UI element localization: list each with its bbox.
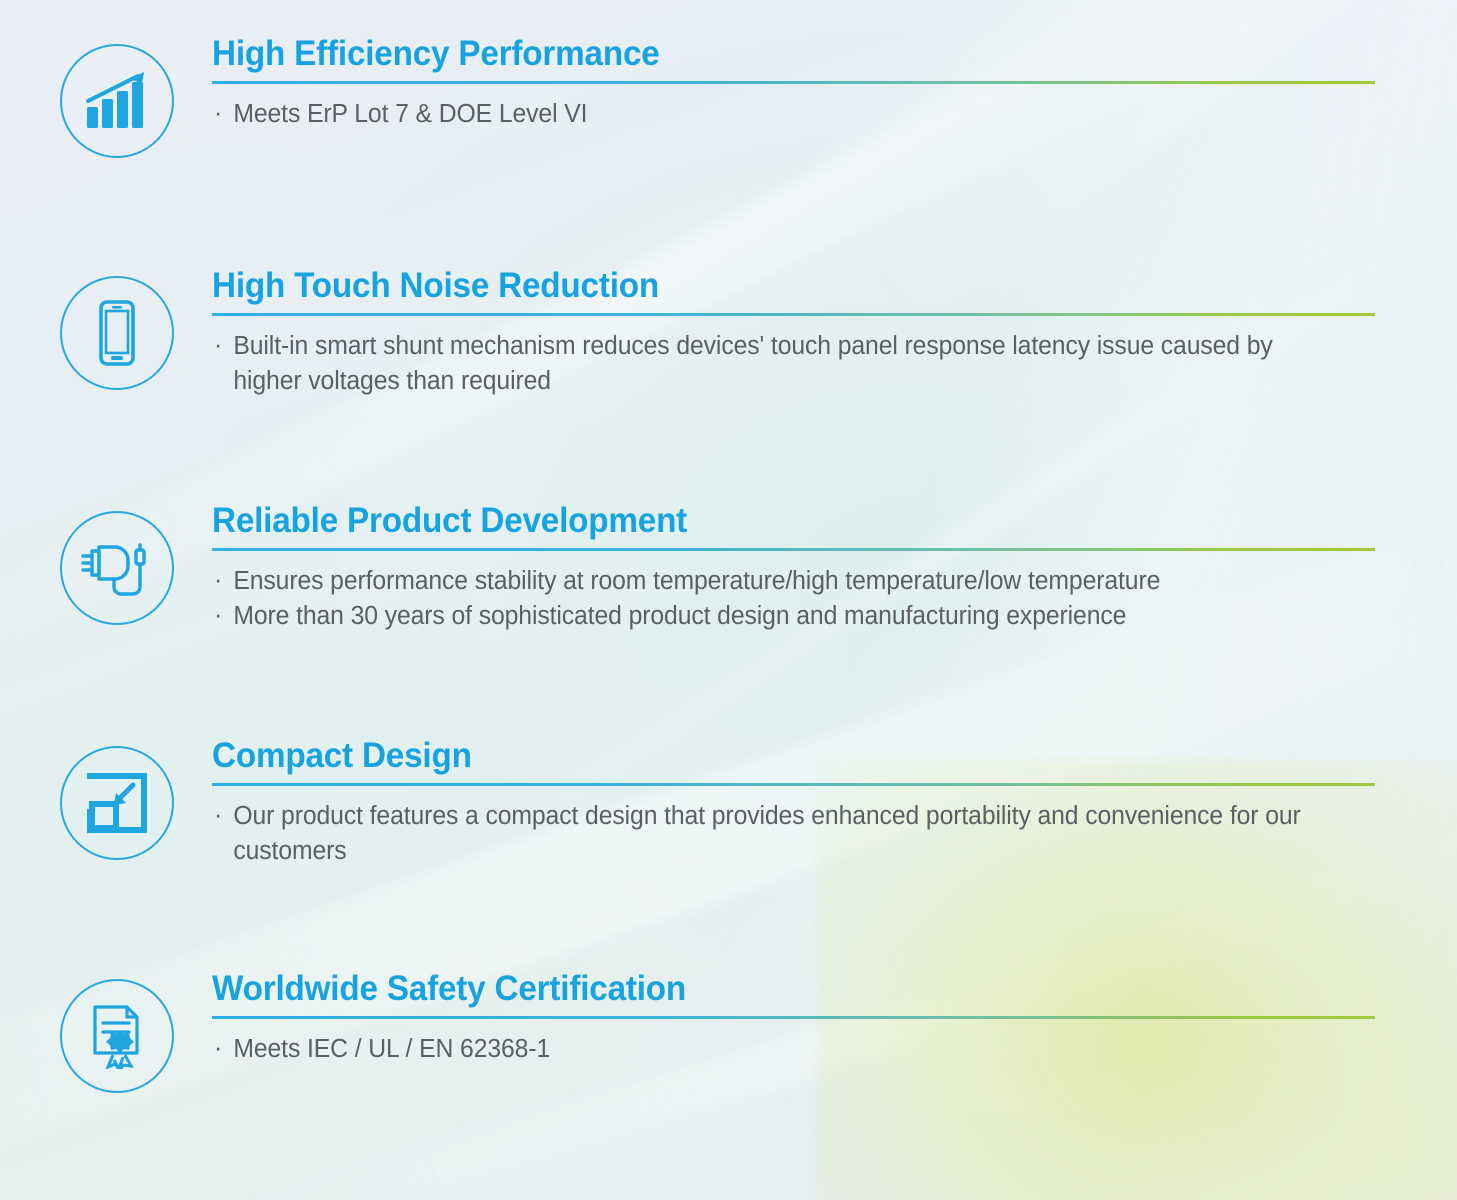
feature-icon-wrap [56, 44, 178, 158]
feature-bullets: Built-in smart shunt mechanism reduces d… [212, 329, 1375, 399]
feature-divider [212, 548, 1375, 551]
compact-resize-icon [60, 746, 174, 860]
certificate-award-icon [60, 979, 174, 1093]
feature-item-reliable-product-development: Reliable Product Development Ensures per… [0, 501, 1457, 736]
feature-title: High Touch Noise Reduction [212, 266, 1317, 305]
feature-text: Reliable Product Development Ensures per… [212, 501, 1457, 634]
feature-item-high-efficiency-performance: High Efficiency Performance Meets ErP Lo… [0, 34, 1457, 266]
feature-title: Reliable Product Development [212, 501, 1317, 540]
feature-bullets: Meets ErP Lot 7 & DOE Level VI [212, 97, 1375, 132]
feature-title: Worldwide Safety Certification [212, 969, 1317, 1008]
feature-item-high-touch-noise-reduction: High Touch Noise Reduction Built-in smar… [0, 266, 1457, 501]
feature-bullets: Ensures performance stability at room te… [212, 564, 1375, 634]
power-adapter-icon [60, 511, 174, 625]
feature-icon-wrap [56, 511, 178, 625]
feature-bullets: Meets IEC / UL / EN 62368-1 [212, 1032, 1375, 1067]
feature-bullet: More than 30 years of sophisticated prod… [212, 599, 1340, 634]
feature-divider [212, 1016, 1375, 1019]
feature-item-worldwide-safety-certification: Worldwide Safety Certification Meets IEC… [0, 969, 1457, 1179]
feature-bullet: Our product features a compact design th… [212, 799, 1340, 869]
feature-text: High Efficiency Performance Meets ErP Lo… [212, 34, 1457, 132]
feature-text: Compact Design Our product features a co… [212, 736, 1457, 869]
feature-divider [212, 81, 1375, 84]
feature-icon-wrap [56, 979, 178, 1093]
feature-title: High Efficiency Performance [212, 34, 1317, 73]
feature-bullet: Meets IEC / UL / EN 62368-1 [212, 1032, 1340, 1067]
feature-icon-wrap [56, 746, 178, 860]
feature-bullet: Ensures performance stability at room te… [212, 564, 1340, 599]
feature-divider [212, 783, 1375, 786]
feature-highlights-page: High Efficiency Performance Meets ErP Lo… [0, 0, 1457, 1200]
feature-bullet: Built-in smart shunt mechanism reduces d… [212, 329, 1340, 399]
feature-bullets: Our product features a compact design th… [212, 799, 1375, 869]
feature-text: Worldwide Safety Certification Meets IEC… [212, 969, 1457, 1067]
feature-icon-wrap [56, 276, 178, 390]
feature-list: High Efficiency Performance Meets ErP Lo… [0, 0, 1457, 1179]
feature-text: High Touch Noise Reduction Built-in smar… [212, 266, 1457, 399]
bar-chart-growth-icon [60, 44, 174, 158]
feature-bullet: Meets ErP Lot 7 & DOE Level VI [212, 97, 1340, 132]
feature-item-compact-design: Compact Design Our product features a co… [0, 736, 1457, 969]
feature-divider [212, 313, 1375, 316]
feature-title: Compact Design [212, 736, 1317, 775]
smartphone-icon [60, 276, 174, 390]
